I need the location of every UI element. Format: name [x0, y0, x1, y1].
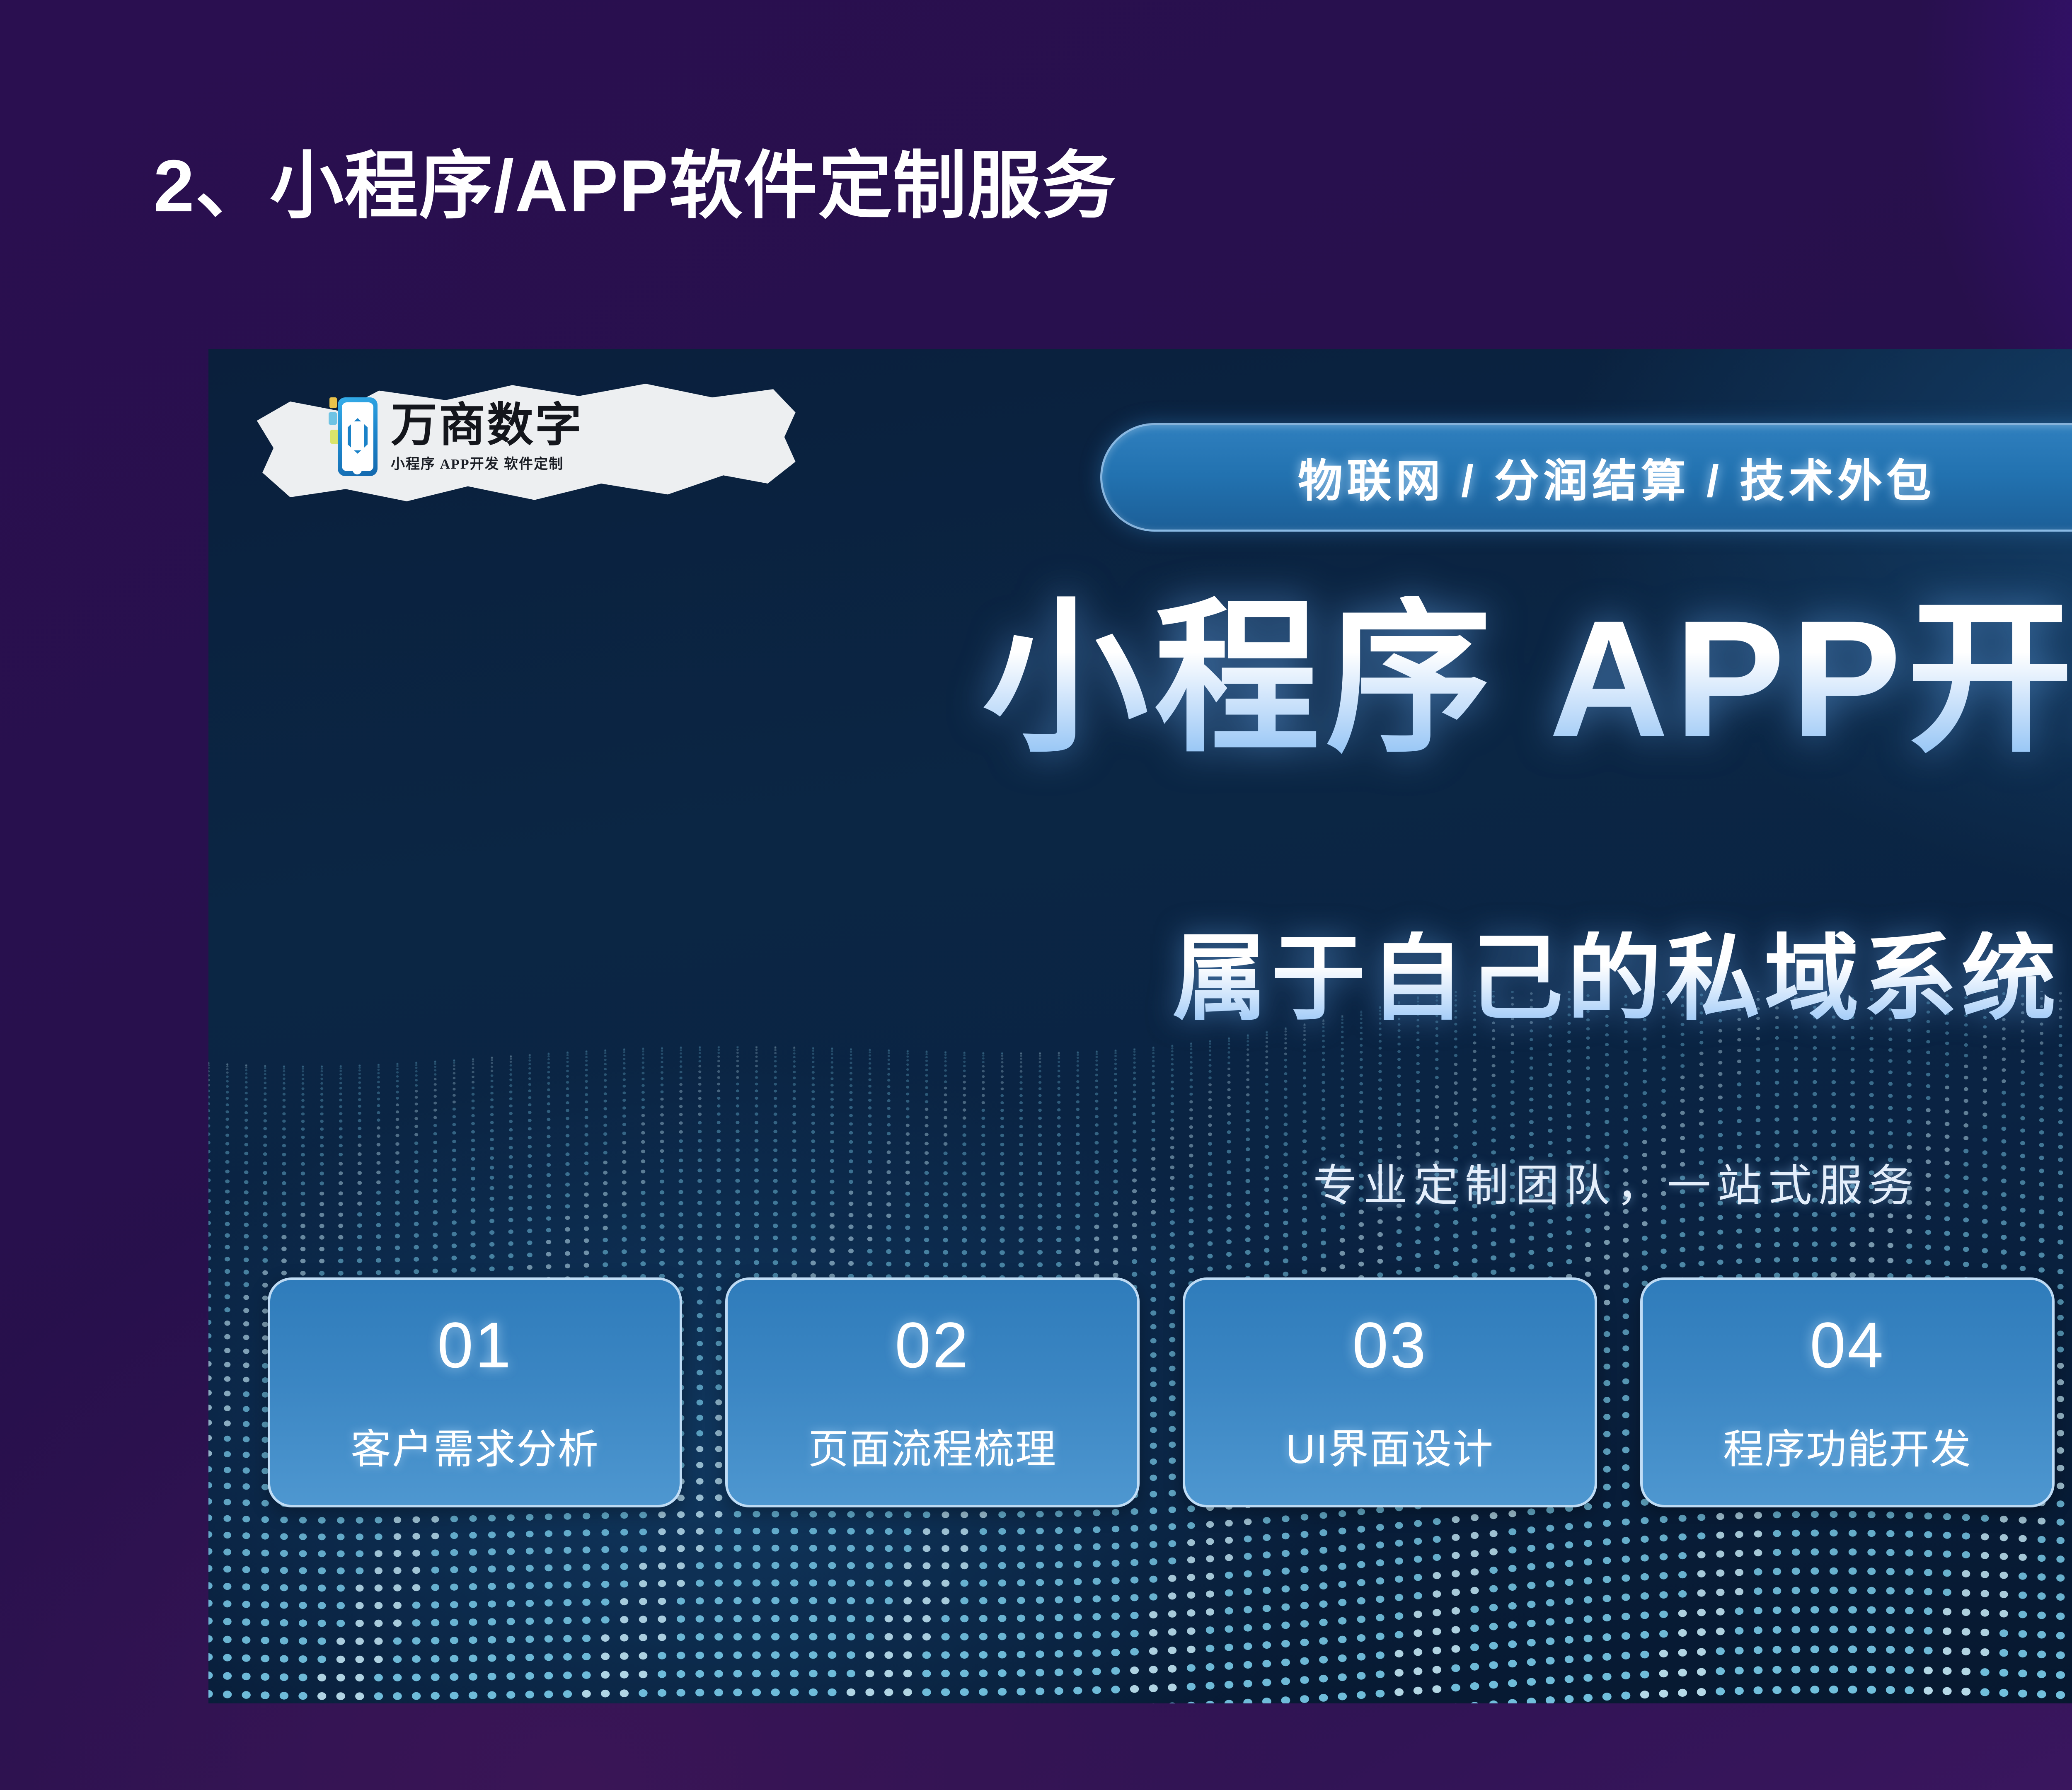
banner-headline: 小程序 APP开发: [208, 596, 2072, 762]
promo-banner: 万商数字 小程序 APP开发 软件定制 物联网 / 分润结算 / 技术外包 小程…: [208, 349, 2072, 1703]
step-number: 01: [437, 1313, 513, 1378]
step-number: 04: [1810, 1313, 1885, 1378]
step-card[interactable]: 01 客户需求分析: [268, 1277, 682, 1507]
service-tags-badge: 物联网 / 分润结算 / 技术外包: [1100, 423, 2072, 532]
step-label: 程序功能开发: [1723, 1416, 1972, 1475]
step-label: UI界面设计: [1286, 1416, 1494, 1475]
banner-tagline: 专业定制团队，一站式服务: [208, 1150, 2072, 1214]
step-number: 02: [895, 1313, 970, 1378]
step-number: 03: [1352, 1313, 1428, 1378]
service-tags-text: 物联网 / 分润结算 / 技术外包: [1298, 445, 1935, 510]
step-card[interactable]: 02 页面流程梳理: [725, 1277, 1140, 1507]
process-step-cards: 01 客户需求分析 02 页面流程梳理 03 UI界面设计 04 程序功能开发 …: [268, 1277, 2072, 1507]
brush-phone-icon: [329, 394, 382, 480]
brush-logo-tagline: 小程序 APP开发 软件定制: [391, 452, 583, 473]
step-card[interactable]: 04 程序功能开发: [1640, 1277, 2055, 1507]
step-card[interactable]: 03 UI界面设计: [1183, 1277, 1597, 1507]
step-label: 页面流程梳理: [808, 1416, 1057, 1475]
step-label: 客户需求分析: [351, 1416, 599, 1475]
banner-brush-logo: 万商数字 小程序 APP开发 软件定制: [246, 374, 801, 511]
page-title: 2、小程序/APP软件定制服务: [153, 149, 1116, 223]
brush-logo-brand: 万商数字: [391, 402, 583, 450]
banner-subheadline: 属于自己的私域系统: [208, 931, 2072, 1026]
